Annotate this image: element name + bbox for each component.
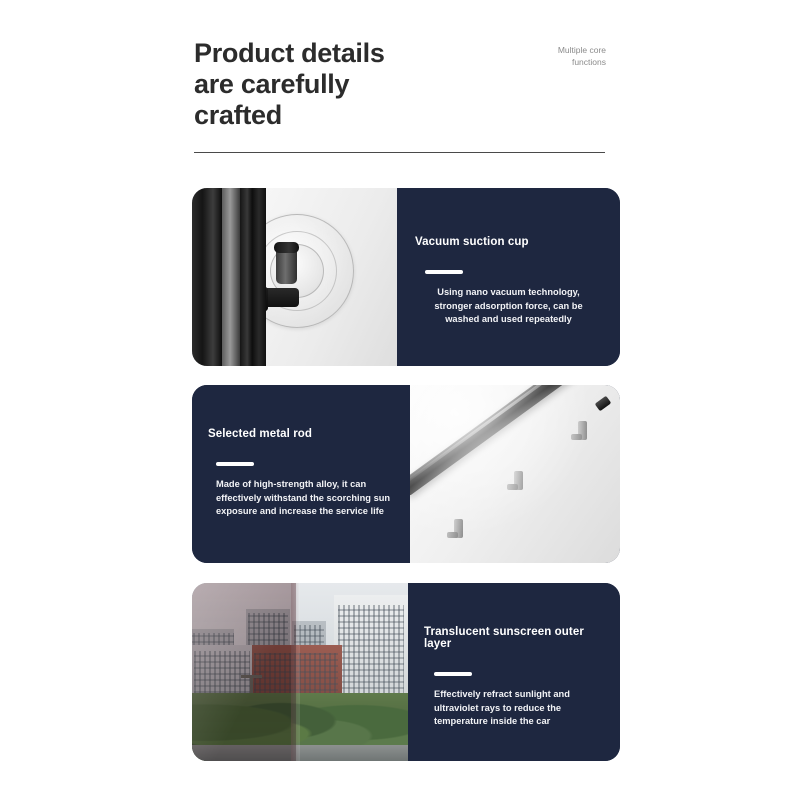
metal-rod-highlight [410,385,596,487]
window-frame-outer [192,188,222,366]
feature-heading: Selected metal rod [204,428,398,440]
page-title: Product details are carefully crafted [194,38,494,131]
feature-text-panel: Vacuum suction cup Using nano vacuum tec… [397,188,620,366]
feature-card: Selected metal rod Made of high-strength… [192,385,620,563]
feature-description: Effectively refract sunlight and ultravi… [422,688,608,729]
city-view-image-canvas [192,583,408,761]
header-kicker: Multiple core functions [476,44,606,68]
rod-hook [514,471,523,490]
accent-dash [216,462,254,466]
feature-description: Using nano vacuum technology, stronger a… [411,286,606,327]
metal-rod-body [410,385,603,496]
metal-rod-photo [410,385,620,563]
accent-dash [434,672,472,676]
feature-heading: Vacuum suction cup [411,236,606,248]
window-rail [252,188,266,366]
feature-card: Translucent sunscreen outer layer Effect… [192,583,620,761]
feature-text-panel: Translucent sunscreen outer layer Effect… [408,583,620,761]
suction-cup-image-canvas [192,188,397,366]
feature-text-panel: Selected metal rod Made of high-strength… [192,385,410,563]
tinted-window-city-view-photo [192,583,408,761]
suction-cup-on-window-photo [192,188,397,366]
feature-heading: Translucent sunscreen outer layer [422,626,608,650]
feature-card: Vacuum suction cup Using nano vacuum tec… [192,188,620,366]
sunscreen-film-tint-overlay [192,583,296,761]
accent-dash [425,270,463,274]
metal-rod-end-cap [595,396,612,412]
rod-hook [454,519,463,538]
metal-rod-image-canvas [410,385,620,563]
hook-cap [274,242,299,253]
building-windows [338,605,404,701]
window-frame-inner [240,188,252,366]
rod-hook [578,421,587,440]
film-edge-boundary [291,583,300,761]
page-header: Product details are carefully crafted Mu… [194,38,606,156]
header-divider [194,152,605,153]
feature-description: Made of high-strength alloy, it can effe… [204,478,398,519]
product-details-page: Product details are carefully crafted Mu… [0,0,800,800]
window-frame-middle [222,188,240,366]
